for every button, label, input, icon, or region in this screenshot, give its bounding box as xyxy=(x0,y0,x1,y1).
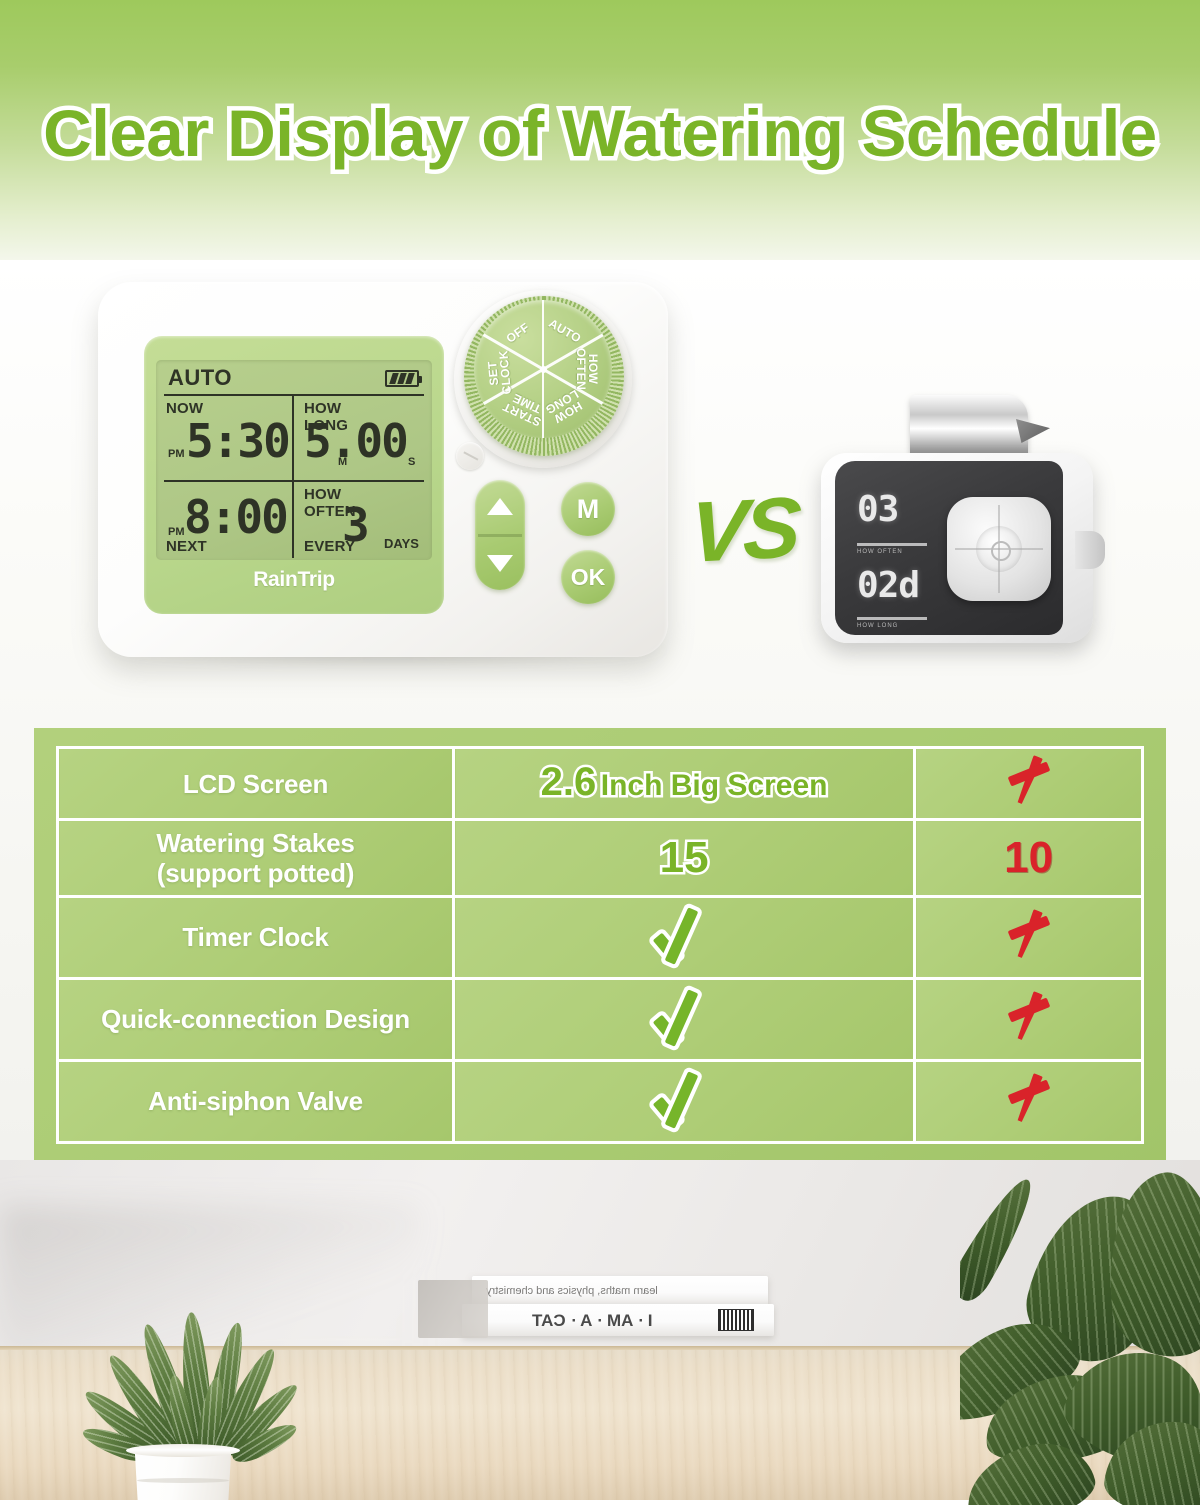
mode-dial-face[interactable]: HOW LONG START TIME SET CLOCK OFF AUTO H… xyxy=(474,300,612,438)
ours-value-small: Inch Big Screen xyxy=(601,764,828,808)
feature-label: LCD Screen xyxy=(183,769,328,799)
lcd-how-long-unit-minutes: M xyxy=(338,456,347,468)
battery-full-icon xyxy=(385,370,419,387)
ours-cell-quick-connection xyxy=(454,978,915,1060)
feature-cell-timer-clock: Timer Clock xyxy=(58,896,454,978)
table-row: Watering Stakes (support potted) 15 10 xyxy=(58,820,1143,896)
lcd-how-often-unit-days: DAYS xyxy=(384,536,419,551)
lcd-now-meridiem: PM xyxy=(168,448,185,460)
theirs-value-number: 10 xyxy=(1004,833,1053,882)
ours-cell-timer-clock xyxy=(454,896,915,978)
lcd-next-meridiem: PM xyxy=(168,526,185,538)
cross-icon xyxy=(1006,755,1052,807)
feature-label: Quick-connection Design xyxy=(101,1004,410,1034)
comparison-table-container: LCD Screen 2.6 Inch Big Screen Watering … xyxy=(34,728,1166,1162)
theirs-cell-anti-siphon xyxy=(915,1060,1143,1142)
checkmark-icon xyxy=(652,1069,716,1129)
cross-icon xyxy=(1006,991,1052,1043)
ours-cell-anti-siphon xyxy=(454,1060,915,1142)
raintrip-water-timer: AUTO NOW PM 5:30 HOW LONG 5.00 M S xyxy=(98,282,668,657)
ours-cell-watering-stakes: 15 xyxy=(454,820,915,896)
comparison-table: LCD Screen 2.6 Inch Big Screen Watering … xyxy=(56,746,1144,1144)
checkmark-icon xyxy=(652,905,716,965)
lcd-mode-label: AUTO xyxy=(168,365,232,391)
competitor-body: 03 HOW OFTEN 02d HOW LONG xyxy=(821,453,1093,643)
dial-screw-icon xyxy=(456,442,484,470)
cross-icon xyxy=(1006,1073,1052,1125)
competitor-dial-knob[interactable] xyxy=(947,497,1051,601)
lcd-now-value: 5:30 xyxy=(186,414,289,468)
page-title: Clear Display of Watering Schedule xyxy=(43,100,1157,166)
down-arrow-icon[interactable] xyxy=(487,555,513,572)
cross-icon xyxy=(1006,909,1052,961)
theirs-cell-lcd-screen xyxy=(915,748,1143,820)
table-row: LCD Screen 2.6 Inch Big Screen xyxy=(58,748,1143,820)
feature-label: Anti-siphon Valve xyxy=(148,1086,363,1116)
scene-wall-shadow xyxy=(0,1206,420,1356)
lcd-how-long-value: 5.00 xyxy=(304,414,407,468)
plant-pot-rim xyxy=(126,1444,240,1457)
theirs-cell-timer-clock xyxy=(915,896,1143,978)
versus-label: VS xyxy=(687,475,808,591)
dieffenbachia-plant xyxy=(960,1165,1200,1505)
lcd-how-long-unit-seconds: S xyxy=(408,456,415,468)
table-row: Timer Clock xyxy=(58,896,1143,978)
feature-label: Timer Clock xyxy=(182,922,328,952)
competitor-value-top: 03 xyxy=(857,489,898,530)
book-shadow xyxy=(418,1280,488,1338)
ours-cell-lcd-screen: 2.6 Inch Big Screen xyxy=(454,748,915,820)
theirs-cell-quick-connection xyxy=(915,978,1143,1060)
up-down-rocker-button[interactable] xyxy=(475,480,525,590)
ours-value-big: 2.6 xyxy=(541,760,597,804)
ok-button[interactable]: OK xyxy=(561,550,615,604)
theirs-cell-watering-stakes: 10 xyxy=(915,820,1143,896)
feature-label-line2: (support potted) xyxy=(157,858,355,888)
feature-cell-watering-stakes: Watering Stakes (support potted) xyxy=(58,820,454,896)
book-barcode-icon xyxy=(718,1309,754,1331)
book-top-title: learn maths, physics and chemistry xyxy=(486,1285,658,1297)
feature-cell-lcd-screen: LCD Screen xyxy=(58,748,454,820)
book-bottom: I · AM · A · CAT xyxy=(462,1304,774,1336)
competitor-value-bottom: 02d xyxy=(857,565,919,606)
lcd-next-label: NEXT xyxy=(166,538,207,555)
feature-label-line1: Watering Stakes xyxy=(156,828,354,858)
lcd-screen: AUTO NOW PM 5:30 HOW LONG 5.00 M S xyxy=(156,360,432,560)
competitor-label-top: HOW OFTEN xyxy=(857,549,903,555)
checkmark-icon xyxy=(652,987,716,1047)
feature-cell-anti-siphon: Anti-siphon Valve xyxy=(58,1060,454,1142)
competitor-lcd-screen: 03 HOW OFTEN 02d HOW LONG xyxy=(835,461,1063,635)
competitor-side-connector xyxy=(1075,531,1105,569)
lcd-next-value: 8:00 xyxy=(184,490,287,544)
book-bottom-title: I · AM · A · CAT xyxy=(532,1311,653,1331)
brand-logo: RainTrip xyxy=(144,568,444,592)
competitor-label-bottom: HOW LONG xyxy=(857,623,898,629)
ours-value-number: 15 xyxy=(660,833,709,883)
lcd-bezel: AUTO NOW PM 5:30 HOW LONG 5.00 M S xyxy=(144,336,444,614)
up-arrow-icon[interactable] xyxy=(487,498,513,515)
competitor-water-timer: 03 HOW OFTEN 02d HOW LONG xyxy=(815,395,1115,660)
page-title-container: Clear Display of Watering Schedule xyxy=(0,100,1200,166)
menu-button[interactable]: M xyxy=(561,482,615,536)
table-row: Quick-connection Design xyxy=(58,978,1143,1060)
table-row: Anti-siphon Valve xyxy=(58,1060,1143,1142)
feature-cell-quick-connection: Quick-connection Design xyxy=(58,978,454,1060)
lcd-how-often-every-label: EVERY xyxy=(304,538,355,555)
dial-segment-how-often[interactable]: HOW OFTEN xyxy=(474,300,612,438)
book-top: learn maths, physics and chemistry xyxy=(472,1276,768,1306)
